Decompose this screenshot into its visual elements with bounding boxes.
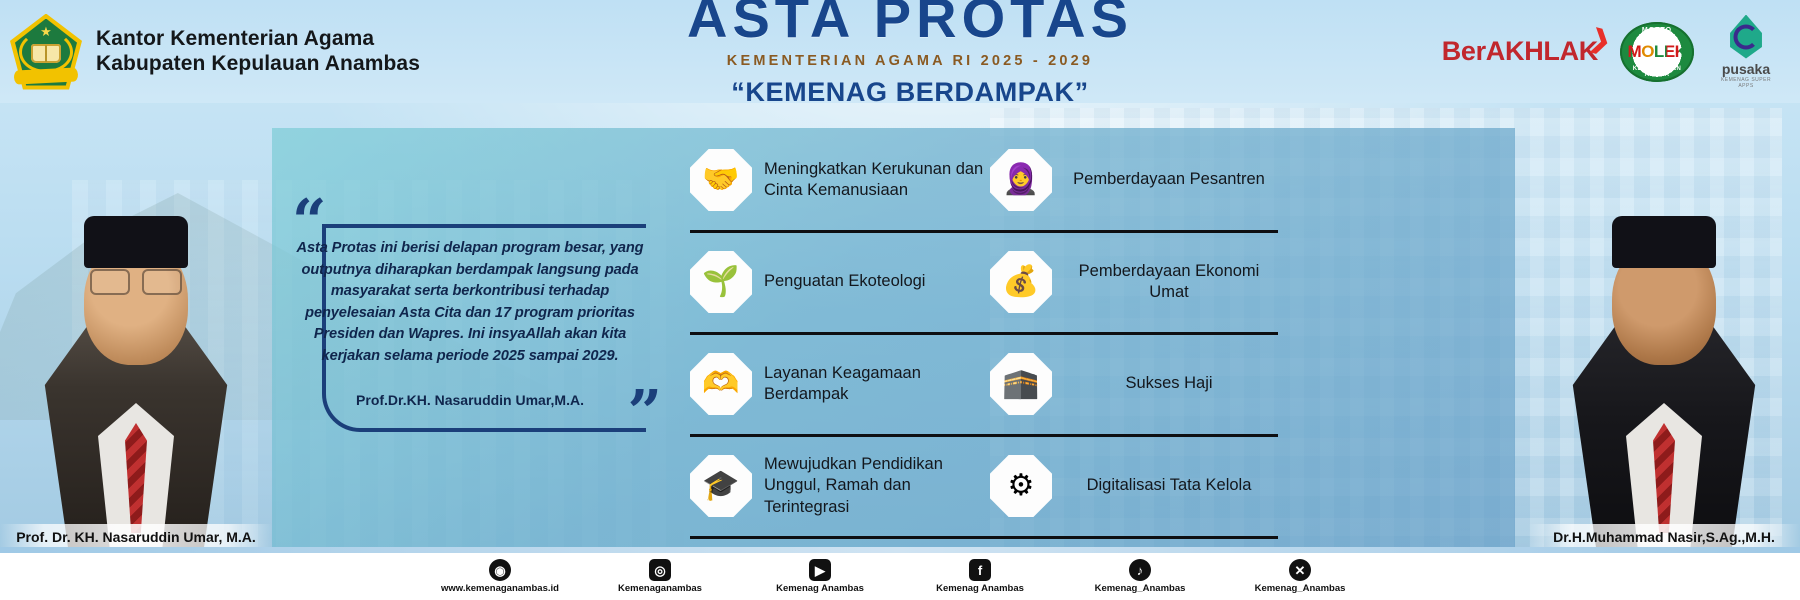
social-item-x[interactable]: ✕ Kemenag_Anambas — [1240, 559, 1360, 594]
program-item-0[interactable]: 🤝 Meningkatkan Kerukunan dan Cinta Keman… — [690, 149, 990, 211]
social-item-tiktok[interactable]: ♪ Kemenag_Anambas — [1080, 559, 1200, 594]
berakhlak-logo: BerAKHLAK ❯ — [1442, 36, 1598, 67]
instagram-icon: ◎ — [649, 559, 671, 581]
songkok-icon — [84, 216, 188, 268]
social-item-instagram[interactable]: ◎ Kemenaganambas — [600, 559, 720, 594]
portrait-minister — [0, 120, 272, 553]
page-subtitle: KEMENTERIAN AGAMA RI 2025 - 2029 — [460, 53, 1360, 69]
program-label: Penguatan Ekoteologi — [764, 271, 925, 292]
header-bar: ★ Kantor Kementerian Agama Kabupaten Kep… — [0, 0, 1800, 103]
program-label: Sukses Haji — [1064, 373, 1274, 394]
social-label: www.kemenaganambas.id — [440, 583, 560, 594]
quote-text: Asta Protas ini berisi delapan program b… — [296, 238, 644, 368]
program-label: Meningkatkan Kerukunan dan Cinta Kemanus… — [764, 159, 990, 201]
program-label: Mewujudkan Pendidikan Unggul, Ramah dan … — [764, 454, 990, 517]
asta-protas-banner: ★ Kantor Kementerian Agama Kabupaten Kep… — [0, 0, 1800, 600]
portrait-head-office — [1528, 120, 1800, 553]
portrait-name: Prof. Dr. KH. Nasaruddin Umar, M.A. — [4, 529, 268, 545]
social-item-website[interactable]: ◉ www.kemenaganambas.id — [440, 559, 560, 594]
program-row: 🎓 Mewujudkan Pendidikan Unggul, Ramah da… — [690, 436, 1290, 536]
quote-close-icon: ” — [627, 397, 662, 430]
program-list: 🤝 Meningkatkan Kerukunan dan Cinta Keman… — [690, 130, 1290, 560]
website-globe-icon: ◉ — [489, 559, 511, 581]
quote-author: Prof.Dr.KH. Nasaruddin Umar,M.A. — [296, 392, 644, 408]
program-row: 🫶 Layanan Keagamaan Berdampak 🕋 Sukses H… — [690, 334, 1290, 434]
program-row: 🌱 Penguatan Ekoteologi 💰 Pemberdayaan Ek… — [690, 232, 1290, 332]
program-label: Layanan Keagamaan Berdampak — [764, 363, 990, 405]
social-label: Kemenag_Anambas — [1080, 583, 1200, 594]
header-title-block: ASTA PROTAS KEMENTERIAN AGAMA RI 2025 - … — [460, 0, 1360, 108]
kaaba-icon: 🕋 — [990, 353, 1052, 415]
molek-logo-icon: MOTTO MOLEK KEMENTERIAN AGAMA — [1620, 22, 1694, 82]
berakhlak-check-icon: ❯ — [1587, 23, 1614, 57]
header-logos: BerAKHLAK ❯ MOTTO MOLEK KEMENTERIAN AGAM… — [1360, 15, 1800, 89]
program-item-6[interactable]: 🎓 Mewujudkan Pendidikan Unggul, Ramah da… — [690, 454, 990, 517]
org-line-1: Kantor Kementerian Agama — [96, 27, 420, 52]
songkok-icon — [1612, 216, 1716, 268]
portrait-name: Dr.H.Muhammad Nasir,S.Ag.,M.H. — [1532, 529, 1796, 545]
program-item-7[interactable]: ⚙ Digitalisasi Tata Kelola — [990, 455, 1290, 517]
gear-globe-network-icon: ⚙ — [990, 455, 1052, 517]
berakhlak-label: BerAKHLAK — [1442, 36, 1598, 66]
molek-sub-label: KEMENTERIAN AGAMA — [1620, 66, 1694, 78]
pusaka-sub-label: KEMENAG SUPER APPS — [1716, 77, 1776, 89]
page-title: ASTA PROTAS — [460, 0, 1360, 46]
program-label: Pemberdayaan Ekonomi Umat — [1064, 261, 1274, 303]
program-item-2[interactable]: 🌱 Penguatan Ekoteologi — [690, 251, 990, 313]
organization-title: Kantor Kementerian Agama Kabupaten Kepul… — [96, 27, 420, 77]
social-label: Kemenag_Anambas — [1240, 583, 1360, 594]
youtube-icon: ▶ — [809, 559, 831, 581]
kemenag-logo-icon: ★ — [10, 14, 82, 90]
social-label: Kemenaganambas — [600, 583, 720, 594]
glasses-icon — [90, 269, 182, 291]
program-row: 🤝 Meningkatkan Kerukunan dan Cinta Keman… — [690, 130, 1290, 230]
program-divider — [690, 536, 1278, 539]
pusaka-logo-icon: pusaka KEMENAG SUPER APPS — [1716, 15, 1776, 89]
program-label: Pemberdayaan Pesantren — [1064, 169, 1274, 190]
page-tagline: “KEMENAG BERDAMPAK” — [460, 77, 1360, 108]
org-line-2: Kabupaten Kepulauan Anambas — [96, 52, 420, 77]
hands-globe-people-icon: 🫶 — [690, 353, 752, 415]
molek-motto-label: MOTTO — [1620, 27, 1694, 34]
facebook-icon: f — [969, 559, 991, 581]
muslim-couple-icon: 🧕 — [990, 149, 1052, 211]
social-label: Kemenag Anambas — [920, 583, 1040, 594]
pusaka-word-label: pusaka — [1716, 61, 1776, 77]
social-item-youtube[interactable]: ▶ Kemenag Anambas — [760, 559, 880, 594]
social-footer: ◉ www.kemenaganambas.id ◎ Kemenaganambas… — [0, 553, 1800, 600]
program-item-3[interactable]: 💰 Pemberdayaan Ekonomi Umat — [990, 251, 1290, 313]
quote-block: “ Asta Protas ini berisi delapan program… — [284, 196, 634, 446]
handshake-unity-icon: 🤝 — [690, 149, 752, 211]
tiktok-icon: ♪ — [1129, 559, 1151, 581]
program-item-4[interactable]: 🫶 Layanan Keagamaan Berdampak — [690, 353, 990, 415]
program-label: Digitalisasi Tata Kelola — [1064, 475, 1274, 496]
money-bag-cycle-icon: 💰 — [990, 251, 1052, 313]
seedling-plant-icon: 🌱 — [690, 251, 752, 313]
molek-word-label: MOLEK — [1628, 42, 1687, 62]
x-twitter-icon: ✕ — [1289, 559, 1311, 581]
social-item-facebook[interactable]: f Kemenag Anambas — [920, 559, 1040, 594]
graduation-books-icon: 🎓 — [690, 455, 752, 517]
social-label: Kemenag Anambas — [760, 583, 880, 594]
program-item-5[interactable]: 🕋 Sukses Haji — [990, 353, 1290, 415]
header-branding: ★ Kantor Kementerian Agama Kabupaten Kep… — [0, 14, 460, 90]
program-item-1[interactable]: 🧕 Pemberdayaan Pesantren — [990, 149, 1290, 211]
